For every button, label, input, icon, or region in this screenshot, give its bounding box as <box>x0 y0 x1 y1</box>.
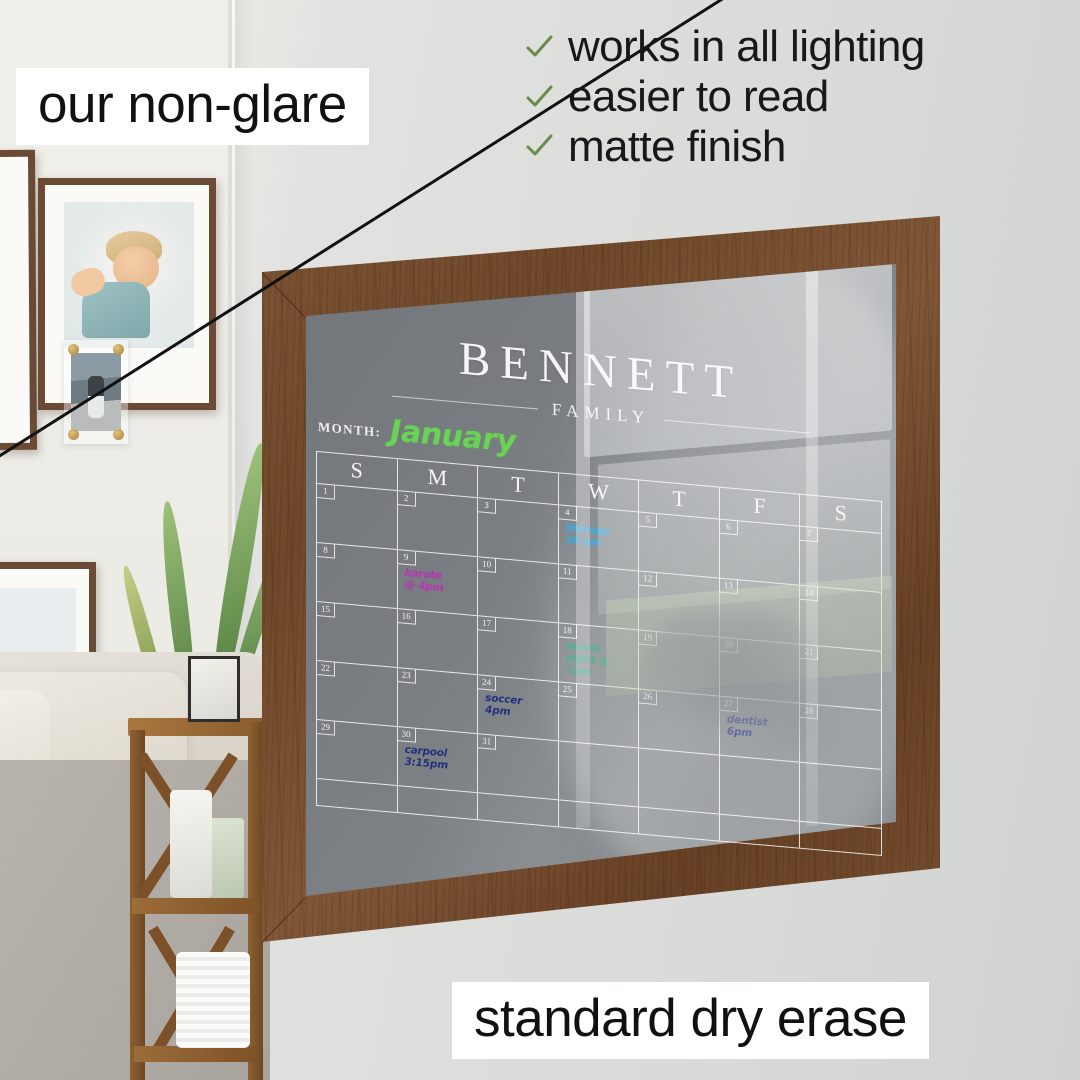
product-comparison-image: BENNETT FAMILY MONTH: January SMTWTFS 12… <box>0 0 1080 1080</box>
handwritten-event-note: dentist6pm <box>727 714 796 744</box>
feature-label: works in all lighting <box>568 24 925 70</box>
day-number: 14 <box>800 586 818 602</box>
calendar-day-cell[interactable]: 21 <box>800 645 881 710</box>
calendar-day-cell[interactable]: 7 <box>800 527 881 592</box>
calendar-day-cell[interactable]: 9karate@ 4pm <box>398 550 479 615</box>
shelf-vase <box>170 790 212 898</box>
check-icon <box>524 131 554 161</box>
calendar-day-cell[interactable]: 26 <box>639 689 720 754</box>
day-number: 12 <box>639 571 657 587</box>
feature-label: easier to read <box>568 74 829 120</box>
calendar-day-cell[interactable]: 4therapy10 am <box>559 505 640 570</box>
calendar-day-cell[interactable]: 15 <box>317 602 398 667</box>
day-number: 2 <box>398 491 416 507</box>
non-glare-caption-text: our non-glare <box>38 74 347 135</box>
check-icon <box>524 82 554 112</box>
calendar-day-cell[interactable] <box>639 748 720 813</box>
day-number: 27 <box>720 697 738 713</box>
calendar-day-cell[interactable]: 19 <box>639 630 720 695</box>
whiteboard-calendar: BENNETT FAMILY MONTH: January SMTWTFS 12… <box>246 216 956 942</box>
day-number: 8 <box>317 543 335 559</box>
calendar-day-cell[interactable]: 10 <box>478 557 559 622</box>
table-shelf <box>134 1046 258 1062</box>
frame-standoff <box>68 344 79 355</box>
standard-dry-erase-caption-text: standard dry erase <box>474 988 907 1049</box>
handwritten-event-note: movienight @ 7pm <box>566 641 635 682</box>
calendar-day-cell[interactable]: 25 <box>559 682 640 747</box>
day-number: 25 <box>559 682 577 698</box>
day-number: 28 <box>800 704 818 720</box>
calendar-day-cell[interactable]: 18movienight @ 7pm <box>559 623 640 688</box>
frame-standoff <box>113 344 124 355</box>
calendar-day-cell[interactable]: 22 <box>317 661 398 726</box>
frame-mat <box>0 157 30 443</box>
calendar-weeks: 1234therapy10 am56789karate@ 4pm10111213… <box>316 483 882 829</box>
day-number: 30 <box>398 727 416 743</box>
calendar-day-cell[interactable]: 31 <box>478 734 559 799</box>
calendar-day-cell[interactable]: 30carpool3:15pm <box>398 727 479 792</box>
calendar-day-cell[interactable]: 27dentist6pm <box>720 697 801 762</box>
day-number: 21 <box>800 645 818 661</box>
calendar-day-cell[interactable]: 6 <box>720 520 801 585</box>
handwritten-event-note: karate@ 4pm <box>405 568 474 598</box>
day-number: 6 <box>720 520 738 536</box>
calendar-day-cell[interactable]: 28 <box>800 704 881 769</box>
divider-rule <box>392 395 538 409</box>
day-number: 29 <box>317 720 335 736</box>
gallery-frame-left <box>0 150 37 451</box>
calendar-day-cell[interactable]: 8 <box>317 543 398 608</box>
handwritten-event-note: therapy10 am <box>566 523 635 553</box>
calendar-day-cell[interactable]: 29 <box>317 720 398 785</box>
calendar-day-cell[interactable] <box>720 756 801 821</box>
day-number: 22 <box>317 661 335 677</box>
calendar-day-cell[interactable]: 12 <box>639 571 720 636</box>
calendar-day-cell[interactable]: 13 <box>720 579 801 644</box>
day-number: 23 <box>398 668 416 684</box>
calendar-day-cell[interactable]: 1 <box>317 484 398 549</box>
feature-label: matte finish <box>568 124 786 170</box>
calendar-day-cell[interactable]: 17 <box>478 616 559 681</box>
day-number: 1 <box>317 484 335 500</box>
calendar-content: BENNETT FAMILY MONTH: January SMTWTFS 12… <box>306 270 896 938</box>
calendar-day-cell[interactable] <box>800 763 881 828</box>
day-number: 11 <box>559 564 577 580</box>
divider-rule <box>664 419 810 433</box>
shelf-picture-frame <box>188 656 240 722</box>
feature-list: works in all lightingeasier to readmatte… <box>524 24 925 173</box>
day-number: 3 <box>478 498 496 514</box>
day-number: 16 <box>398 609 416 625</box>
day-number: 4 <box>559 505 577 521</box>
family-subtitle: FAMILY <box>552 400 650 429</box>
day-number: 15 <box>317 602 335 618</box>
check-icon <box>524 32 554 62</box>
day-number: 26 <box>639 689 657 705</box>
calendar-day-cell[interactable]: 20 <box>720 638 801 703</box>
day-number: 19 <box>639 630 657 646</box>
shelf-basket <box>176 952 250 1048</box>
calendar-grid: SMTWTFS 1234therapy10 am56789karate@ 4pm… <box>316 451 882 856</box>
feature-item: easier to read <box>524 74 925 120</box>
month-value-handwritten: January <box>390 417 515 455</box>
calendar-day-cell[interactable]: 23 <box>398 668 479 733</box>
calendar-day-cell[interactable]: 3 <box>478 498 559 563</box>
calendar-day-cell[interactable]: 11 <box>559 564 640 629</box>
calendar-day-cell[interactable]: 2 <box>398 491 479 556</box>
calendar-day-cell[interactable]: 14 <box>800 586 881 651</box>
table-shelf <box>132 898 260 914</box>
calendar-day-cell[interactable]: 5 <box>639 512 720 577</box>
day-number: 31 <box>478 734 496 750</box>
feature-item: matte finish <box>524 124 925 170</box>
calendar-day-cell[interactable] <box>559 741 640 806</box>
standard-dry-erase-caption: standard dry erase <box>452 982 929 1059</box>
day-number: 10 <box>478 557 496 573</box>
day-number: 9 <box>398 550 416 566</box>
handwritten-event-note: soccer4pm <box>485 693 554 723</box>
day-number: 13 <box>720 579 738 595</box>
day-number: 20 <box>720 638 738 654</box>
calendar-day-cell[interactable]: 24soccer4pm <box>478 675 559 740</box>
handwritten-event-note: carpool3:15pm <box>405 745 474 775</box>
day-number: 18 <box>559 623 577 639</box>
feature-item: works in all lighting <box>524 24 925 70</box>
frame-standoff <box>113 429 124 440</box>
day-number: 17 <box>478 616 496 632</box>
non-glare-caption: our non-glare <box>16 68 369 145</box>
baby-photo <box>64 202 194 348</box>
calendar-day-cell[interactable]: 16 <box>398 609 479 674</box>
month-label: MONTH: <box>318 419 381 444</box>
day-number: 5 <box>639 512 657 528</box>
frame-standoff <box>68 429 79 440</box>
day-number: 24 <box>478 675 496 691</box>
month-row: MONTH: January <box>318 411 516 455</box>
day-number: 7 <box>800 527 818 543</box>
